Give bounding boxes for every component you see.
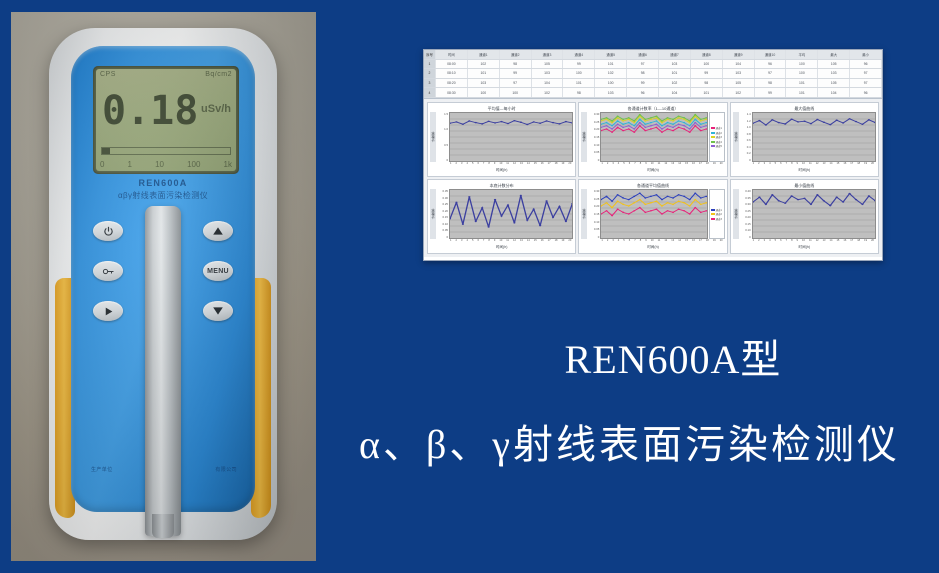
y-tick-label: 0.20: [443, 209, 448, 213]
y-tick-label: 0.2: [747, 151, 751, 155]
table-cell: 101: [468, 69, 500, 78]
table-row: 408:301001001029810396104101102991011049…: [424, 88, 882, 98]
y-tick-label: 0.40: [745, 189, 750, 193]
legend-swatch: [711, 213, 715, 215]
legend-label: 通道3: [716, 135, 722, 139]
table-header-cell: 最大: [818, 50, 850, 59]
mini-chart-xlabel: 时间(h): [733, 245, 876, 251]
table-cell: 100: [786, 69, 818, 78]
y-tick-label: 0.25: [594, 120, 599, 124]
table-cell: 103: [532, 69, 564, 78]
mini-chart-xlabel: 时间(h): [430, 245, 573, 251]
mini-chart-ylabel: 计数率: [733, 112, 739, 162]
mini-chart-xlabel: 时间(h): [581, 245, 724, 251]
product-photo: CPS Bq/cm2 0.18 uSv/h 0 1 10 100 1k: [11, 12, 316, 561]
device-model-label: REN600A: [71, 178, 255, 188]
table-cell: 100: [500, 88, 532, 97]
table-cell: 105: [532, 60, 564, 69]
lcd-reading-value: 0.18: [102, 91, 198, 131]
y-tick-label: 0.15: [443, 215, 448, 219]
mini-chart-plot: [449, 112, 573, 162]
mini-chart-xlabel: 时间(h): [733, 168, 876, 174]
power-icon: [103, 226, 114, 237]
mini-chart-plot: [600, 189, 707, 239]
mini-chart-xlabel: 时间(h): [581, 168, 724, 174]
mini-chart: 平均值—每小时计数率1.51.00.5012345678910111213141…: [427, 102, 576, 177]
table-cell: 101: [691, 88, 723, 97]
legend-label: 通道1: [716, 208, 722, 212]
table-header-cell: 通道8: [691, 50, 723, 59]
table-cell: 3: [424, 79, 436, 88]
lcd-scale-tick: 1k: [224, 160, 232, 169]
mini-chart-title: 最小值曲线: [733, 182, 876, 189]
table-header-row: 序号时间通道1通道2通道3通道4通道5通道6通道7通道8通道9通道10平均最大最…: [424, 50, 882, 60]
legend-swatch: [711, 145, 715, 147]
lcd-bargraph: [101, 147, 231, 155]
mini-chart-plot: [752, 112, 876, 162]
mini-chart-legend: 通道1通道2通道3通道4通道5: [709, 112, 725, 162]
y-tick-label: 0.10: [594, 220, 599, 224]
table-cell: 105: [723, 79, 755, 88]
triangle-down-icon: [212, 306, 224, 316]
table-cell: 96: [850, 88, 882, 97]
y-tick-label: 0.15: [594, 135, 599, 139]
table-cell: 102: [532, 88, 564, 97]
legend-label: 通道2: [716, 212, 722, 216]
y-tick-label: 0.20: [594, 204, 599, 208]
y-tick-label: 0.35: [745, 196, 750, 200]
mini-chart: 最小值曲线计数率0.400.350.300.250.200.150.100123…: [730, 179, 879, 254]
table-cell: 103: [595, 88, 627, 97]
legend-swatch: [711, 132, 715, 134]
y-tick-label: 0.30: [443, 196, 448, 200]
table-cell: 98: [627, 69, 659, 78]
table-cell: 97: [850, 69, 882, 78]
mini-chart-ylabel: 计数率: [581, 189, 587, 239]
device-handle: [145, 206, 181, 536]
lcd-scale-tick: 1: [128, 160, 132, 169]
table-cell: 99: [627, 79, 659, 88]
table-cell: 100: [786, 60, 818, 69]
table-row: 208:101019910310010298101991039710010397: [424, 69, 882, 79]
y-tick-label: 0.5: [444, 143, 448, 147]
table-cell: 97: [500, 79, 532, 88]
legend-entry: 通道5: [711, 144, 723, 148]
table-cell: 1: [424, 60, 436, 69]
chart-grid: 平均值—每小时计数率1.51.00.5012345678910111213141…: [424, 99, 882, 257]
mini-chart-yticks: 1.51.00.50: [437, 112, 449, 162]
table-header-cell: 通道1: [468, 50, 500, 59]
lcd-bargraph-fill: [102, 148, 110, 154]
table-cell: 100: [563, 69, 595, 78]
device-footer-right-text: 有限公司: [215, 466, 237, 473]
mini-chart-plot: [600, 112, 707, 162]
mini-chart-xlabel: 时间(h): [430, 168, 573, 174]
y-tick-label: 0.30: [745, 202, 750, 206]
menu-button[interactable]: MENU: [203, 261, 233, 281]
legend-entry: 通道1: [711, 126, 723, 130]
mini-chart-ylabel: 计数率: [733, 189, 739, 239]
table-header-cell: 通道9: [723, 50, 755, 59]
lcd-status-left: CPS: [100, 71, 116, 78]
y-tick-label: 0.8: [747, 132, 751, 136]
device-handle-tip: [152, 514, 174, 538]
mini-chart-yticks: 1.41.21.00.80.60.40.20: [740, 112, 752, 162]
legend-entry: 通道2: [711, 131, 723, 135]
legend-label: 通道4: [716, 140, 722, 144]
table-row: 308:201039710410110099102981059810110597: [424, 79, 882, 89]
table-cell: 104: [532, 79, 564, 88]
mini-chart: 各通道计数率（1—10通道）计数率0.300.250.200.150.100.0…: [578, 102, 727, 177]
table-cell: 98: [563, 88, 595, 97]
legend-swatch: [711, 218, 715, 220]
menu-button-label: MENU: [207, 268, 229, 275]
y-tick-label: 0.25: [594, 197, 599, 201]
table-cell: 101: [659, 69, 691, 78]
table-cell: 2: [424, 69, 436, 78]
table-cell: 100: [468, 88, 500, 97]
table-header-cell: 序号: [424, 50, 436, 59]
legend-label: 通道5: [716, 144, 722, 148]
table-cell: 105: [818, 60, 850, 69]
legend-swatch: [711, 141, 715, 143]
y-tick-label: 1.2: [747, 119, 751, 123]
table-cell: 104: [659, 88, 691, 97]
table-cell: 103: [468, 79, 500, 88]
table-cell: 103: [723, 69, 755, 78]
lcd-scale: 0 1 10 100 1k: [100, 160, 232, 169]
legend-entry: 通道3: [711, 135, 723, 139]
y-tick-label: 0.35: [443, 189, 448, 193]
mini-chart-title: 本底计数分布: [430, 182, 573, 189]
mini-chart: 各通道平均值曲线计数率0.300.250.200.150.100.050通道1通…: [578, 179, 727, 254]
y-tick-label: 0.30: [594, 189, 599, 193]
table-cell: 08:30: [436, 88, 468, 97]
y-tick-label: 1.0: [747, 125, 751, 129]
device-footer-left-text: 生产单位: [91, 466, 113, 473]
table-header-cell: 通道7: [659, 50, 691, 59]
y-tick-label: 1.0: [444, 127, 448, 131]
product-model-title: REN600A型: [423, 327, 923, 385]
lcd-screen: CPS Bq/cm2 0.18 uSv/h 0 1 10 100 1k: [96, 69, 236, 171]
slide-root: CPS Bq/cm2 0.18 uSv/h 0 1 10 100 1k: [0, 0, 939, 573]
table-cell: 98: [691, 79, 723, 88]
legend-label: 通道1: [716, 126, 722, 130]
lcd-scale-tick: 0: [100, 160, 104, 169]
table-header-cell: 时间: [436, 50, 468, 59]
lcd-reading-unit: uSv/h: [201, 103, 231, 115]
mini-chart-ylabel: 计数率: [430, 112, 436, 162]
y-tick-label: 0.15: [745, 222, 750, 226]
lcd-status-right: Bq/cm2: [205, 71, 232, 78]
mini-chart-title: 平均值—每小时: [430, 105, 573, 112]
table-cell: 104: [818, 88, 850, 97]
table-header-cell: 通道5: [595, 50, 627, 59]
legend-label: 通道3: [716, 217, 722, 221]
mini-chart: 本底计数分布计数率0.350.300.250.200.150.100.05012…: [427, 179, 576, 254]
table-cell: 99: [500, 69, 532, 78]
mini-chart-title: 各通道计数率（1—10通道）: [581, 105, 724, 112]
table-cell: 103: [818, 69, 850, 78]
device-front-face: CPS Bq/cm2 0.18 uSv/h 0 1 10 100 1k: [71, 46, 255, 512]
table-cell: 102: [595, 69, 627, 78]
table-header-cell: 通道10: [755, 50, 787, 59]
table-cell: 99: [755, 88, 787, 97]
table-cell: 101: [786, 79, 818, 88]
y-tick-label: 0.30: [594, 112, 599, 116]
y-tick-label: 1.4: [747, 112, 751, 116]
table-cell: 96: [627, 88, 659, 97]
mini-chart-yticks: 0.350.300.250.200.150.100.050: [437, 189, 449, 239]
triangle-up-icon: [212, 226, 224, 236]
mini-chart-yticks: 0.300.250.200.150.100.050: [588, 189, 600, 239]
table-cell: 100: [691, 60, 723, 69]
mini-chart-yticks: 0.300.250.200.150.100.050: [588, 112, 600, 162]
data-table: 序号时间通道1通道2通道3通道4通道5通道6通道7通道8通道9通道10平均最大最…: [424, 50, 882, 99]
y-tick-label: 0.15: [594, 212, 599, 216]
key-icon: [102, 267, 115, 276]
key-lock-button[interactable]: [93, 261, 123, 281]
legend-label: 通道2: [716, 131, 722, 135]
start-button[interactable]: [93, 301, 123, 321]
legend-entry: 通道1: [711, 208, 723, 212]
table-cell: 100: [595, 79, 627, 88]
table-header-cell: 平均: [786, 50, 818, 59]
y-tick-label: 0.4: [747, 145, 751, 149]
table-cell: 102: [723, 88, 755, 97]
table-cell: 99: [563, 60, 595, 69]
y-tick-label: 0.25: [443, 202, 448, 206]
lcd-scale-tick: 100: [187, 160, 200, 169]
legend-entry: 通道2: [711, 212, 723, 216]
measurement-software-screenshot: 序号时间通道1通道2通道3通道4通道5通道6通道7通道8通道9通道10平均最大最…: [423, 49, 883, 261]
table-cell: 96: [755, 60, 787, 69]
table-header-cell: 通道3: [532, 50, 564, 59]
table-cell: 97: [850, 79, 882, 88]
mini-chart-plot: [449, 189, 573, 239]
table-cell: 98: [500, 60, 532, 69]
mini-chart-plot: [752, 189, 876, 239]
table-cell: 104: [723, 60, 755, 69]
y-tick-label: 0.05: [594, 227, 599, 231]
mini-chart-ylabel: 计数率: [581, 112, 587, 162]
triangle-right-icon: [103, 306, 114, 317]
device-description-label: αβγ射线表面污染检测仪: [71, 190, 255, 201]
y-tick-label: 0.20: [594, 127, 599, 131]
y-tick-label: 0.05: [594, 150, 599, 154]
table-cell: 101: [563, 79, 595, 88]
down-button[interactable]: [203, 301, 233, 321]
mini-chart-title: 各通道平均值曲线: [581, 182, 724, 189]
lcd-bezel: CPS Bq/cm2 0.18 uSv/h 0 1 10 100 1k: [93, 66, 239, 174]
lcd-scale-tick: 10: [155, 160, 164, 169]
power-button[interactable]: [93, 221, 123, 241]
table-cell: 4: [424, 88, 436, 97]
mini-chart-legend: 通道1通道2通道3: [709, 189, 725, 239]
y-tick-label: 0.20: [745, 215, 750, 219]
table-header-cell: 通道2: [500, 50, 532, 59]
device-body: CPS Bq/cm2 0.18 uSv/h 0 1 10 100 1k: [49, 28, 277, 540]
y-tick-label: 0.25: [745, 209, 750, 213]
table-cell: 08:10: [436, 69, 468, 78]
table-cell: 101: [595, 60, 627, 69]
y-tick-label: 0.05: [443, 228, 448, 232]
device-brand-block: REN600A αβγ射线表面污染检测仪: [71, 178, 255, 201]
product-description-title: α、β、γ射线表面污染检测仪: [320, 412, 939, 470]
table-cell: 99: [691, 69, 723, 78]
mini-chart-title: 最大值曲线: [733, 105, 876, 112]
table-cell: 08:20: [436, 79, 468, 88]
table-cell: 101: [786, 88, 818, 97]
y-tick-label: 0.10: [594, 143, 599, 147]
table-cell: 102: [659, 79, 691, 88]
table-header-cell: 通道6: [627, 50, 659, 59]
mini-chart: 最大值曲线计数率1.41.21.00.80.60.40.201234567891…: [730, 102, 879, 177]
table-header-cell: 最小: [850, 50, 882, 59]
table-row: 108:001029810599101971031001049610010596: [424, 60, 882, 70]
y-tick-label: 0.6: [747, 138, 751, 142]
table-cell: 96: [850, 60, 882, 69]
up-button[interactable]: [203, 221, 233, 241]
table-cell: 08:00: [436, 60, 468, 69]
table-cell: 97: [627, 60, 659, 69]
mini-chart-yticks: 0.400.350.300.250.200.150.100: [740, 189, 752, 239]
table-cell: 103: [659, 60, 691, 69]
mini-chart-ylabel: 计数率: [430, 189, 436, 239]
table-cell: 97: [755, 69, 787, 78]
table-cell: 105: [818, 79, 850, 88]
lcd-status-bar: CPS Bq/cm2: [100, 71, 232, 78]
y-tick-label: 0.10: [443, 222, 448, 226]
legend-entry: 通道4: [711, 140, 723, 144]
legend-swatch: [711, 209, 715, 211]
legend-entry: 通道3: [711, 217, 723, 221]
y-tick-label: 1.5: [444, 112, 448, 116]
legend-swatch: [711, 136, 715, 138]
table-cell: 98: [755, 79, 787, 88]
y-tick-label: 0.10: [745, 228, 750, 232]
table-cell: 102: [468, 60, 500, 69]
table-header-cell: 通道4: [563, 50, 595, 59]
legend-swatch: [711, 127, 715, 129]
